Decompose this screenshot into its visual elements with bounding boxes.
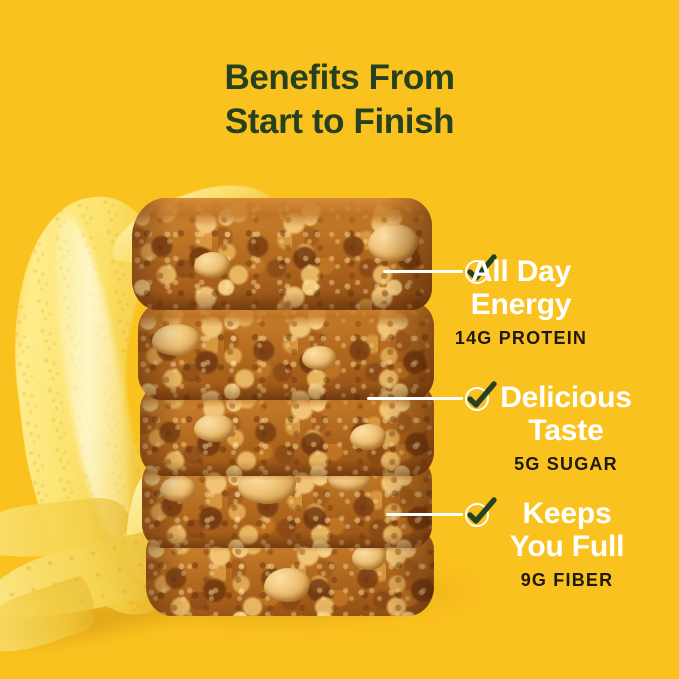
benefit-title-line-1: Delicious <box>500 381 632 414</box>
leader-line-2 <box>367 397 463 400</box>
benefit-title-line-1: All Day <box>455 255 587 288</box>
benefit-title-line-2: Taste <box>500 414 632 447</box>
benefit-block-delicious-taste: Delicious Taste 5G SUGAR <box>566 381 679 477</box>
infographic-canvas: Benefits From Start to Finish All <box>0 0 679 679</box>
leader-line-3 <box>386 513 463 516</box>
page-title-line-1: Benefits From <box>0 56 679 100</box>
benefit-block-all-day-energy: All Day Energy 14G PROTEIN <box>521 255 653 351</box>
benefit-nutrition-3: 9G FIBER <box>510 567 625 593</box>
benefit-nutrition-2: 5G SUGAR <box>500 451 632 477</box>
checkmark-icon-3 <box>463 499 493 529</box>
benefit-title-line-2: You Full <box>510 530 625 563</box>
benefit-nutrition-1: 14G PROTEIN <box>455 325 587 351</box>
page-title-line-2: Start to Finish <box>0 100 679 144</box>
benefit-title-line-2: Energy <box>455 288 587 321</box>
benefit-title-line-1: Keeps <box>510 497 625 530</box>
page-title: Benefits From Start to Finish <box>0 56 679 144</box>
checkmark-icon-2 <box>463 383 493 413</box>
leader-line-1 <box>383 270 463 273</box>
benefit-block-keeps-you-full: Keeps You Full 9G FIBER <box>567 497 679 593</box>
